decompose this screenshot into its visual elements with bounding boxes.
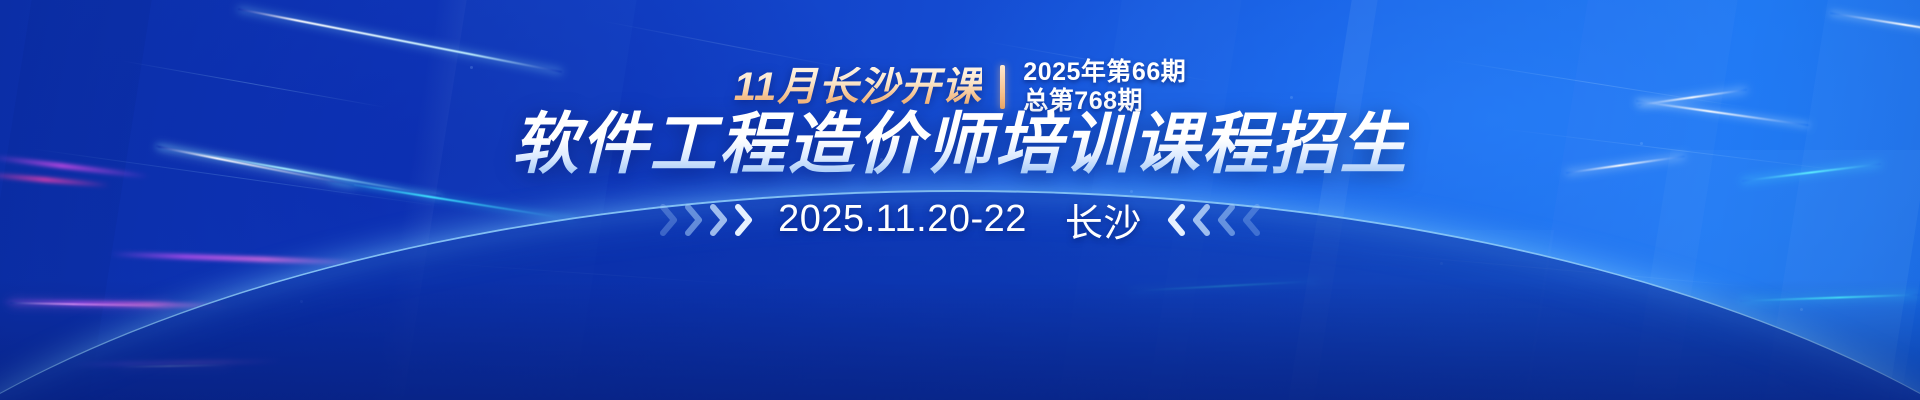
- chevron-left-icon: [1164, 203, 1186, 237]
- issue-line-1: 2025年第66期: [1023, 58, 1186, 87]
- banner-content: 11月长沙开课 2025年第66期 总第768期 软件工程造价师培训课程招生: [0, 0, 1920, 400]
- chevron-left-icon: [1189, 203, 1211, 237]
- date-row: 2025.11.20-22 长沙: [0, 192, 1920, 247]
- event-date: 2025.11.20-22: [778, 198, 1027, 241]
- chevron-right-icon: [709, 203, 731, 237]
- chevron-right-icon: [659, 203, 681, 237]
- title-row: 软件工程造价师培训课程招生: [0, 108, 1920, 182]
- kicker-headline: 11月长沙开课: [734, 67, 983, 107]
- chevron-right-icon: [734, 203, 756, 237]
- chevron-left-group: [1164, 203, 1261, 237]
- chevron-left-icon: [1239, 203, 1261, 237]
- promo-banner: 11月长沙开课 2025年第66期 总第768期 软件工程造价师培训课程招生: [0, 0, 1920, 400]
- chevron-right-icon: [684, 203, 706, 237]
- chevron-right-group: [659, 203, 756, 237]
- vertical-bar-divider-icon: [1000, 65, 1005, 109]
- event-city: 长沙: [1065, 192, 1142, 247]
- page-title: 软件工程造价师培训课程招生: [512, 108, 1409, 182]
- chevron-left-icon: [1214, 203, 1236, 237]
